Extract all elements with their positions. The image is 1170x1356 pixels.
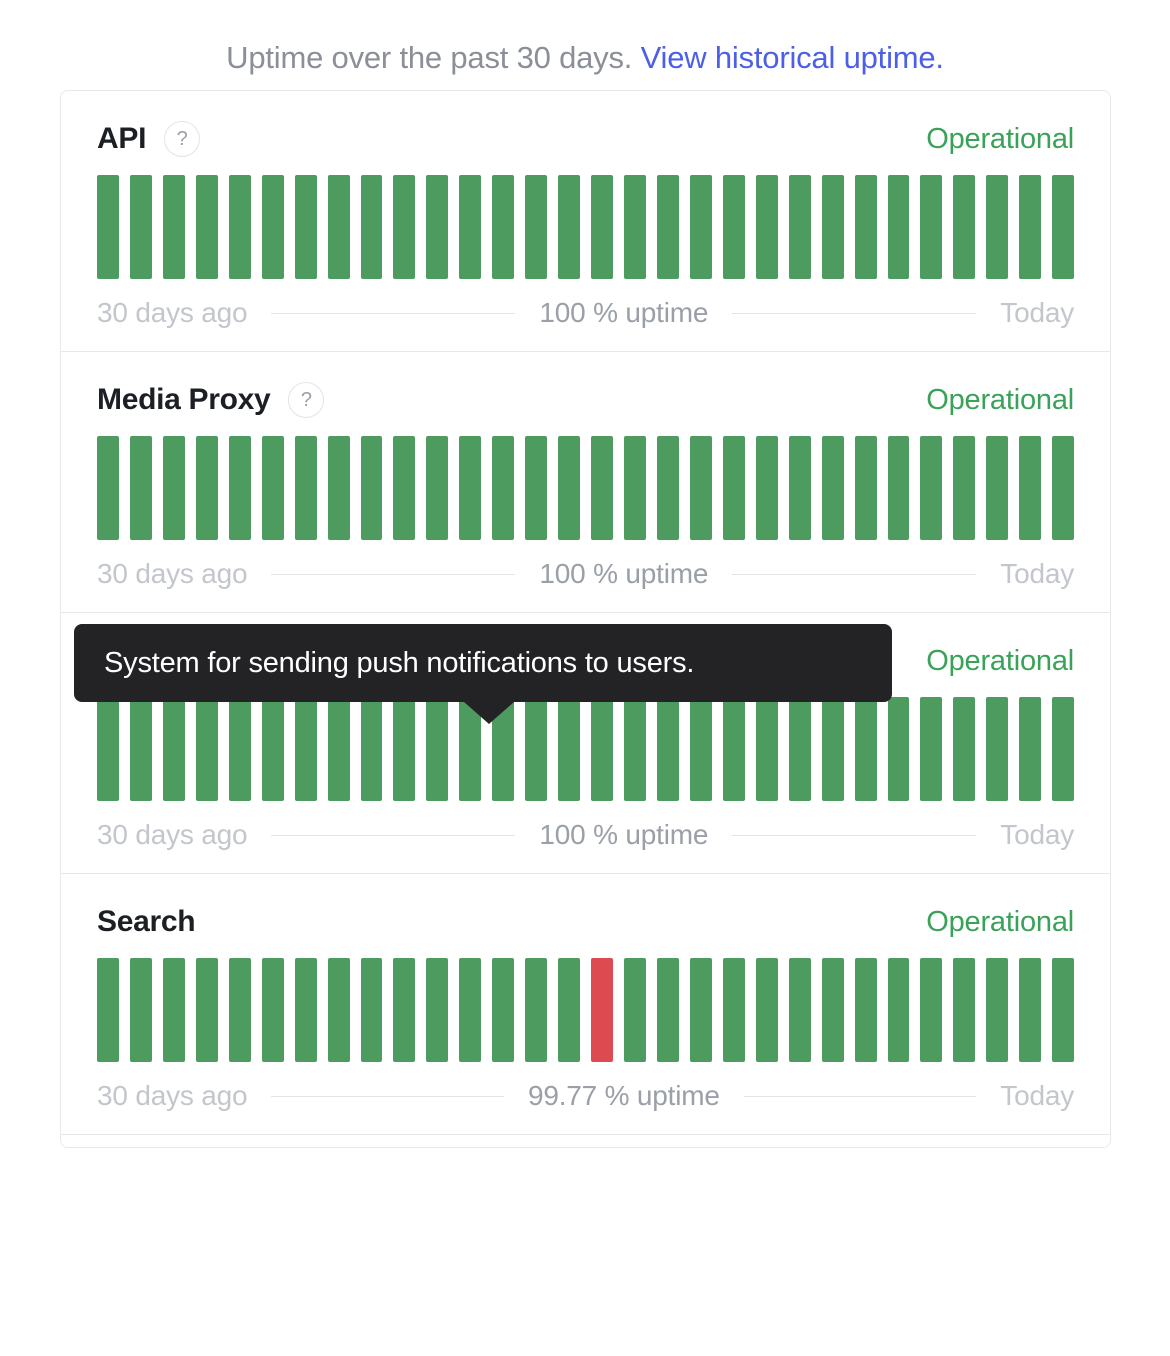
uptime-day-bar[interactable] [97, 436, 119, 540]
uptime-day-bar[interactable] [492, 175, 514, 279]
uptime-day-bar[interactable] [657, 175, 679, 279]
component-row-push-notifications: Push Notifications?Operational30 days ag… [61, 613, 1110, 874]
uptime-day-bar[interactable] [459, 175, 481, 279]
uptime-day-bar[interactable] [690, 958, 712, 1062]
component-status-badge: Operational [926, 384, 1074, 417]
uptime-day-bar[interactable] [920, 436, 942, 540]
uptime-day-bar[interactable] [789, 958, 811, 1062]
uptime-day-bar[interactable] [822, 697, 844, 801]
legend-rule-right [732, 835, 976, 836]
uptime-day-bar[interactable] [723, 958, 745, 1062]
legend-end-label: Today [1000, 819, 1074, 851]
uptime-day-bar[interactable] [624, 436, 646, 540]
uptime-day-bar[interactable] [657, 697, 679, 801]
uptime-day-bar[interactable] [262, 175, 284, 279]
uptime-day-bar[interactable] [328, 958, 350, 1062]
uptime-day-bar[interactable] [789, 175, 811, 279]
uptime-header: Uptime over the past 30 days. View histo… [0, 36, 1170, 80]
uptime-day-bar[interactable] [657, 958, 679, 1062]
uptime-day-bar[interactable] [130, 958, 152, 1062]
uptime-day-bar[interactable] [163, 697, 185, 801]
legend-start-label: 30 days ago [97, 1080, 247, 1112]
component-name: Media Proxy [97, 383, 270, 417]
uptime-day-bar[interactable] [163, 436, 185, 540]
uptime-day-bar[interactable] [426, 697, 448, 801]
uptime-day-bar[interactable] [986, 958, 1008, 1062]
uptime-day-bar[interactable] [1052, 175, 1074, 279]
uptime-day-bar[interactable] [855, 175, 877, 279]
uptime-day-bar[interactable] [953, 697, 975, 801]
uptime-day-bar[interactable] [525, 436, 547, 540]
uptime-day-bar[interactable] [130, 175, 152, 279]
uptime-day-bar[interactable] [459, 697, 481, 801]
component-status-badge: Operational [926, 123, 1074, 156]
uptime-day-bar[interactable] [361, 958, 383, 1062]
legend-rule-right [732, 313, 976, 314]
uptime-day-bar[interactable] [756, 175, 778, 279]
uptime-day-bar[interactable] [591, 175, 613, 279]
uptime-day-bar[interactable] [855, 958, 877, 1062]
uptime-day-bar[interactable] [756, 436, 778, 540]
legend-rule-right [744, 1096, 977, 1097]
uptime-day-bar[interactable] [789, 697, 811, 801]
legend-rule-right [732, 574, 976, 575]
component-name: Push Notifications [97, 644, 355, 678]
uptime-day-bar[interactable] [624, 697, 646, 801]
uptime-day-bar[interactable] [1052, 436, 1074, 540]
uptime-day-bar[interactable] [558, 175, 580, 279]
uptime-day-bar[interactable] [888, 436, 910, 540]
uptime-day-bar[interactable] [789, 436, 811, 540]
uptime-bar-chart [97, 958, 1074, 1062]
legend-end-label: Today [1000, 558, 1074, 590]
uptime-day-bar[interactable] [657, 436, 679, 540]
uptime-day-bar[interactable] [591, 436, 613, 540]
uptime-day-bar[interactable] [262, 958, 284, 1062]
legend-start-label: 30 days ago [97, 819, 247, 851]
uptime-day-bar[interactable] [888, 958, 910, 1062]
uptime-percentage-label: 99.77 % uptime [528, 1080, 720, 1112]
uptime-day-bar[interactable] [393, 436, 415, 540]
component-name: API [97, 122, 146, 156]
status-page-uptime-section: Uptime over the past 30 days. View histo… [0, 0, 1170, 1356]
uptime-day-bar[interactable] [459, 436, 481, 540]
uptime-legend: 30 days ago100 % uptimeToday [97, 558, 1074, 590]
uptime-day-bar[interactable] [229, 175, 251, 279]
uptime-day-bar[interactable] [229, 436, 251, 540]
uptime-bar-chart [97, 175, 1074, 279]
uptime-bar-chart [97, 436, 1074, 540]
uptime-day-bar[interactable] [196, 175, 218, 279]
legend-rule-left [271, 574, 515, 575]
legend-end-label: Today [1000, 297, 1074, 329]
uptime-day-bar[interactable] [262, 436, 284, 540]
component-row-next-partial [61, 1135, 1110, 1147]
uptime-day-bar[interactable] [624, 958, 646, 1062]
help-question-icon[interactable]: ? [164, 121, 200, 157]
uptime-day-bar[interactable] [986, 697, 1008, 801]
uptime-day-bar[interactable] [426, 436, 448, 540]
uptime-day-bar[interactable] [1019, 697, 1041, 801]
uptime-day-bar[interactable] [920, 175, 942, 279]
uptime-day-bar[interactable] [953, 958, 975, 1062]
uptime-day-bar[interactable] [196, 958, 218, 1062]
uptime-day-bar[interactable] [393, 958, 415, 1062]
component-row-head: Push Notifications?Operational [97, 639, 1074, 683]
uptime-day-bar[interactable] [756, 958, 778, 1062]
uptime-day-bar[interactable] [492, 436, 514, 540]
uptime-day-bar[interactable] [855, 697, 877, 801]
uptime-day-bar[interactable] [690, 697, 712, 801]
uptime-components-card: API?Operational30 days ago100 % uptimeTo… [60, 90, 1111, 1148]
uptime-day-bar[interactable] [492, 697, 514, 801]
legend-end-label: Today [1000, 1080, 1074, 1112]
uptime-day-bar[interactable] [690, 175, 712, 279]
uptime-day-bar[interactable] [953, 436, 975, 540]
legend-rule-left [271, 313, 515, 314]
uptime-day-bar[interactable] [953, 175, 975, 279]
legend-rule-left [271, 835, 515, 836]
uptime-day-bar[interactable] [361, 175, 383, 279]
uptime-day-bar[interactable] [97, 175, 119, 279]
uptime-day-bar[interactable] [525, 958, 547, 1062]
uptime-day-bar[interactable] [426, 175, 448, 279]
legend-rule-left [271, 1096, 504, 1097]
uptime-day-bar[interactable] [328, 436, 350, 540]
component-row-api: API?Operational30 days ago100 % uptimeTo… [61, 91, 1110, 352]
uptime-day-bar[interactable] [393, 697, 415, 801]
uptime-day-bar[interactable] [97, 697, 119, 801]
uptime-percentage-label: 100 % uptime [539, 819, 708, 851]
uptime-day-bar[interactable] [1019, 436, 1041, 540]
uptime-day-bar[interactable] [426, 958, 448, 1062]
uptime-day-bar[interactable] [822, 436, 844, 540]
uptime-day-bar[interactable] [591, 958, 613, 1062]
component-row-head: Media Proxy?Operational [97, 378, 1074, 422]
uptime-day-bar[interactable] [986, 436, 1008, 540]
uptime-day-bar[interactable] [459, 958, 481, 1062]
uptime-day-bar[interactable] [130, 697, 152, 801]
uptime-day-bar[interactable] [525, 175, 547, 279]
uptime-day-bar[interactable] [723, 175, 745, 279]
uptime-day-bar[interactable] [163, 958, 185, 1062]
uptime-day-bar[interactable] [986, 175, 1008, 279]
uptime-percentage-label: 100 % uptime [539, 297, 708, 329]
uptime-day-bar[interactable] [361, 697, 383, 801]
component-row-head: API?Operational [97, 117, 1074, 161]
uptime-day-bar[interactable] [262, 697, 284, 801]
uptime-day-bar[interactable] [229, 958, 251, 1062]
uptime-day-bar[interactable] [822, 175, 844, 279]
uptime-day-bar[interactable] [624, 175, 646, 279]
uptime-legend: 30 days ago100 % uptimeToday [97, 297, 1074, 329]
uptime-day-bar[interactable] [196, 697, 218, 801]
uptime-day-bar[interactable] [723, 697, 745, 801]
uptime-day-bar[interactable] [1052, 958, 1074, 1062]
component-row-media-proxy: Media Proxy?Operational30 days ago100 % … [61, 352, 1110, 613]
uptime-legend: 30 days ago100 % uptimeToday [97, 819, 1074, 851]
legend-start-label: 30 days ago [97, 297, 247, 329]
component-row-search: SearchOperational30 days ago99.77 % upti… [61, 874, 1110, 1135]
component-name: Search [97, 905, 195, 939]
legend-start-label: 30 days ago [97, 558, 247, 590]
uptime-day-bar[interactable] [328, 175, 350, 279]
uptime-day-bar[interactable] [756, 697, 778, 801]
uptime-percentage-label: 100 % uptime [539, 558, 708, 590]
uptime-bar-chart [97, 697, 1074, 801]
uptime-day-bar[interactable] [97, 958, 119, 1062]
uptime-legend: 30 days ago99.77 % uptimeToday [97, 1080, 1074, 1112]
uptime-day-bar[interactable] [130, 436, 152, 540]
uptime-day-bar[interactable] [558, 436, 580, 540]
uptime-day-bar[interactable] [295, 697, 317, 801]
uptime-day-bar[interactable] [1019, 175, 1041, 279]
uptime-day-bar[interactable] [525, 697, 547, 801]
uptime-day-bar[interactable] [822, 958, 844, 1062]
uptime-day-bar[interactable] [888, 697, 910, 801]
uptime-day-bar[interactable] [855, 436, 877, 540]
uptime-day-bar[interactable] [393, 175, 415, 279]
uptime-day-bar[interactable] [690, 436, 712, 540]
view-historical-uptime-link[interactable]: View historical uptime. [641, 40, 944, 75]
uptime-day-bar[interactable] [920, 697, 942, 801]
uptime-day-bar[interactable] [163, 175, 185, 279]
uptime-day-bar[interactable] [196, 436, 218, 540]
uptime-day-bar[interactable] [591, 697, 613, 801]
component-status-badge: Operational [926, 645, 1074, 678]
uptime-day-bar[interactable] [1052, 697, 1074, 801]
uptime-day-bar[interactable] [920, 958, 942, 1062]
uptime-day-bar[interactable] [229, 697, 251, 801]
uptime-day-bar[interactable] [328, 697, 350, 801]
help-question-icon[interactable]: ? [288, 382, 324, 418]
uptime-day-bar[interactable] [295, 436, 317, 540]
uptime-day-bar[interactable] [558, 958, 580, 1062]
uptime-day-bar[interactable] [558, 697, 580, 801]
uptime-day-bar[interactable] [295, 175, 317, 279]
uptime-day-bar[interactable] [295, 958, 317, 1062]
uptime-day-bar[interactable] [492, 958, 514, 1062]
uptime-day-bar[interactable] [888, 175, 910, 279]
component-row-head: SearchOperational [97, 900, 1074, 944]
component-status-badge: Operational [926, 906, 1074, 939]
uptime-day-bar[interactable] [1019, 958, 1041, 1062]
help-question-icon[interactable]: ? [373, 643, 409, 679]
uptime-day-bar[interactable] [361, 436, 383, 540]
uptime-header-text: Uptime over the past 30 days. [226, 40, 632, 75]
uptime-day-bar[interactable] [723, 436, 745, 540]
